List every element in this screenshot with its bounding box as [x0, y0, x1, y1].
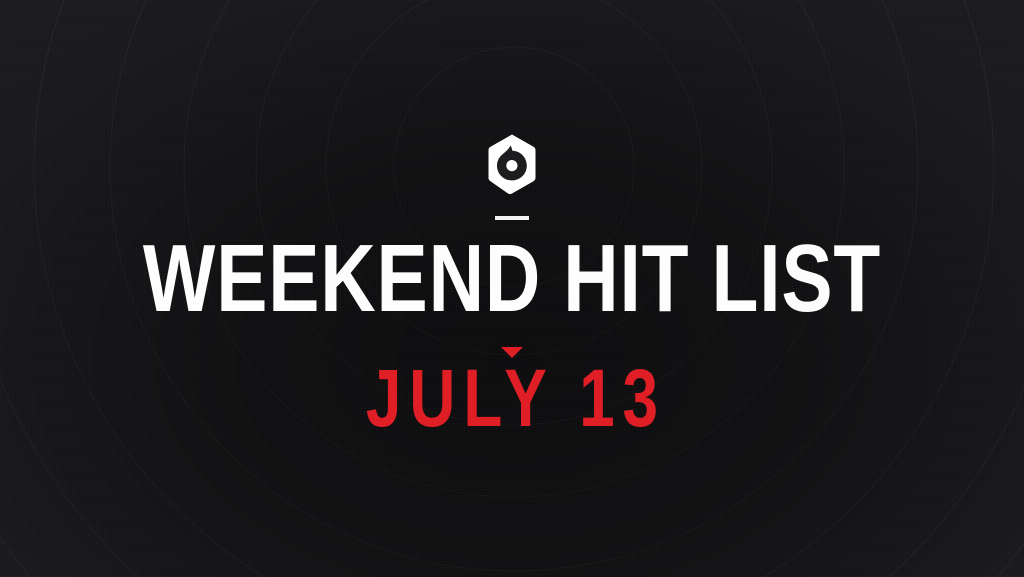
poster-content: WEEKEND HIT LIST JULY 13 [0, 0, 1024, 577]
poster-canvas: WEEKEND HIT LIST JULY 13 [0, 0, 1024, 577]
title-divider [495, 216, 529, 220]
date-label: JULY 13 [113, 358, 912, 440]
beats-logo [481, 133, 543, 195]
page-title: WEEKEND HIT LIST [102, 231, 921, 327]
